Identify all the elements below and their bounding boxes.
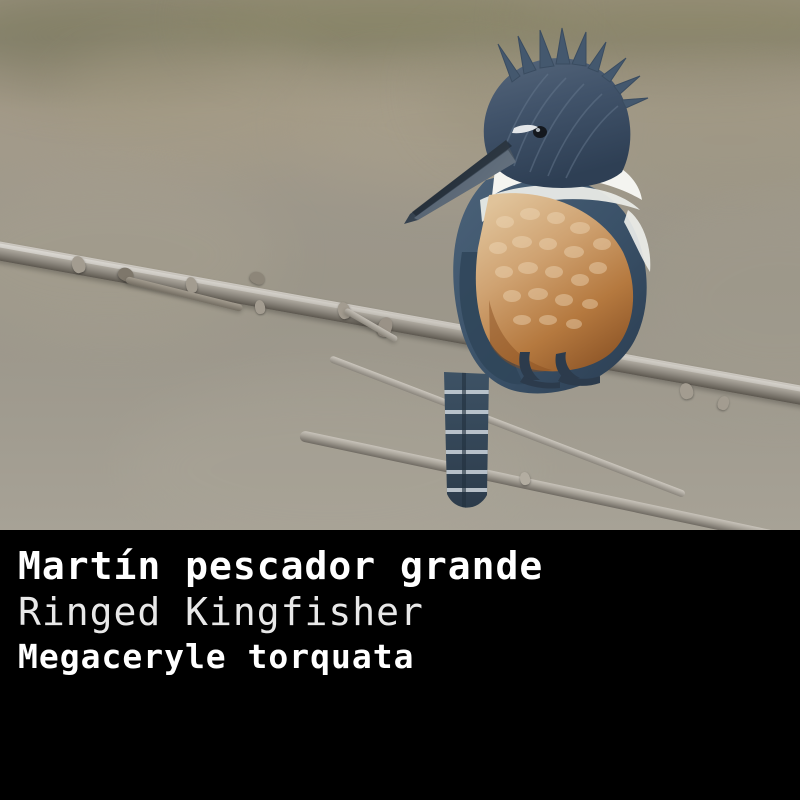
common-name-spanish: Martín pescador grande — [18, 543, 596, 589]
ringed-kingfisher-bird — [0, 0, 800, 530]
bird-eye-highlight — [536, 128, 540, 132]
photograph — [0, 0, 800, 530]
bird-photo-card: Martín pescador grande Ringed Kingfisher… — [0, 0, 800, 800]
scientific-name: Megaceryle torquata — [18, 635, 618, 679]
common-name-english: Ringed Kingfisher — [18, 589, 618, 635]
species-title-block: Martín pescador grande Ringed Kingfisher… — [18, 543, 618, 679]
bird-tail — [438, 366, 498, 516]
caption-band: Martín pescador grande Ringed Kingfisher… — [0, 530, 800, 800]
